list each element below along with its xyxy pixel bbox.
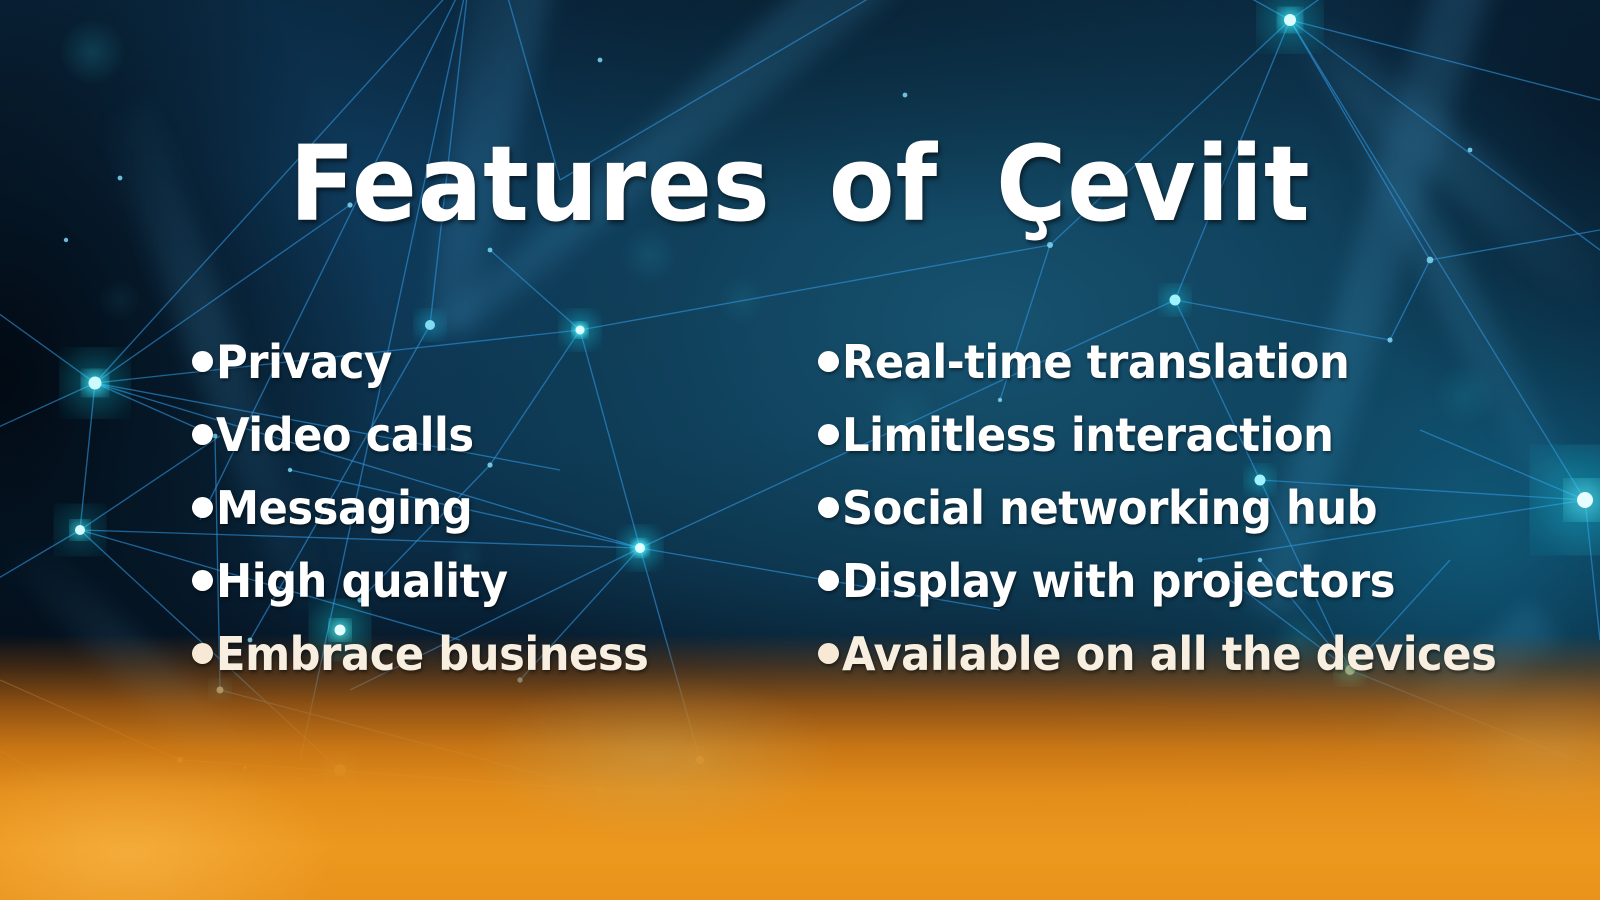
feature-list-left: Privacy Video calls Messaging High quali…	[192, 325, 676, 690]
bullet-icon	[818, 643, 839, 664]
list-item-label: Display with projectors	[842, 558, 1395, 604]
list-item[interactable]: Messaging	[192, 471, 676, 544]
list-item[interactable]: Real-time translation	[818, 325, 1538, 398]
slide-title: Features of Çeviit	[64, 132, 1536, 236]
list-item-label: Embrace business	[216, 631, 648, 677]
bullet-icon	[818, 351, 839, 372]
list-item-label: Social networking hub	[842, 485, 1377, 531]
list-item[interactable]: Social networking hub	[818, 471, 1538, 544]
bullet-icon	[192, 351, 213, 372]
list-item[interactable]: Display with projectors	[818, 544, 1538, 617]
bullet-icon	[192, 497, 213, 518]
bullet-icon	[192, 570, 213, 591]
list-item-label: Limitless interaction	[842, 412, 1333, 458]
bullet-icon	[192, 424, 213, 445]
list-item-label: Privacy	[216, 339, 392, 385]
list-item-label: Messaging	[216, 485, 472, 531]
bullet-icon	[818, 570, 839, 591]
list-item-label: Real-time translation	[842, 339, 1349, 385]
list-item[interactable]: Available on all the devices	[818, 617, 1538, 690]
list-item[interactable]: Privacy	[192, 325, 676, 398]
feature-list-right: Real-time translation Limitless interact…	[818, 325, 1538, 690]
list-item-label: Available on all the devices	[842, 631, 1496, 677]
list-item-label: High quality	[216, 558, 508, 604]
list-item[interactable]: Video calls	[192, 398, 676, 471]
bullet-icon	[818, 424, 839, 445]
bullet-icon	[192, 643, 213, 664]
presentation-slide: Features of Çeviit Privacy Video calls M…	[0, 0, 1600, 900]
list-item-label: Video calls	[216, 412, 474, 458]
slide-content: Features of Çeviit Privacy Video calls M…	[0, 0, 1600, 900]
list-item[interactable]: Limitless interaction	[818, 398, 1538, 471]
list-item[interactable]: High quality	[192, 544, 676, 617]
list-item[interactable]: Embrace business	[192, 617, 676, 690]
bullet-icon	[818, 497, 839, 518]
